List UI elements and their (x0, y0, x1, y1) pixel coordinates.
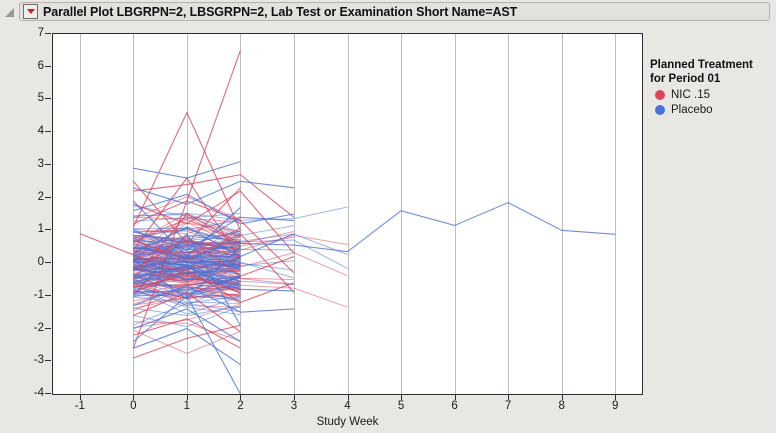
page-title: Parallel Plot LBGRPN=2, LBSGRPN=2, Lab T… (43, 5, 517, 19)
x-axis-tick-label: 3 (291, 400, 297, 412)
y-axis-tick-mark (45, 197, 51, 198)
legend-item[interactable]: NIC .15 (650, 89, 774, 101)
parallel-plot-svg (53, 34, 642, 394)
y-axis-tick-mark (45, 229, 51, 230)
title-frame: Parallel Plot LBGRPN=2, LBSGRPN=2, Lab T… (19, 2, 770, 21)
legend-item[interactable]: Placebo (650, 104, 774, 116)
y-axis-tick-mark (45, 393, 51, 394)
subject-profile-line (133, 181, 294, 204)
y-axis-tick-mark (45, 262, 51, 263)
y-axis-tick-marks (0, 33, 52, 395)
x-axis-tick-label: 8 (558, 400, 564, 412)
subject-profile-line (133, 329, 240, 365)
outline-triangle-icon[interactable] (5, 8, 14, 17)
legend: Planned Treatment for Period 01 NIC .15P… (650, 59, 774, 116)
legend-entries: NIC .15Placebo (650, 89, 774, 116)
x-axis-tick-label: 5 (398, 400, 404, 412)
series-lines (80, 50, 615, 394)
legend-item-label: NIC .15 (671, 89, 710, 101)
x-axis-tick-labels: -10123456789 (52, 396, 643, 416)
y-axis-tick-mark (45, 131, 51, 132)
legend-color-dot-icon (655, 90, 665, 100)
x-axis-tick-label: 2 (237, 400, 243, 412)
chart-area: -4-3-2-101234567 -10123456789 Study Week… (0, 25, 776, 433)
subject-profile-line (240, 203, 615, 252)
y-axis-tick-mark (45, 295, 51, 296)
x-axis-tick-label: 9 (612, 400, 618, 412)
x-axis-tick-label: 0 (130, 400, 136, 412)
parallel-plot-panel: Parallel Plot LBGRPN=2, LBSGRPN=2, Lab T… (0, 0, 776, 433)
y-axis-tick-mark (45, 98, 51, 99)
x-axis-tick-label: -1 (75, 400, 85, 412)
y-axis-tick-mark (45, 66, 51, 67)
legend-color-dot-icon (655, 105, 665, 115)
plot-frame[interactable] (52, 33, 643, 395)
panel-title-bar: Parallel Plot LBGRPN=2, LBSGRPN=2, Lab T… (0, 0, 776, 25)
x-axis-tick-label: 1 (184, 400, 190, 412)
x-axis-title: Study Week (52, 416, 643, 428)
subject-profile-line (133, 162, 240, 178)
x-axis-tick-label: 4 (344, 400, 350, 412)
y-axis-tick-mark (45, 164, 51, 165)
y-axis-tick-mark (45, 360, 51, 361)
x-axis-tick-label: 6 (451, 400, 457, 412)
y-axis-tick-mark (45, 33, 51, 34)
red-down-triangle-icon[interactable] (23, 4, 38, 19)
legend-item-label: Placebo (671, 104, 713, 116)
legend-title: Planned Treatment for Period 01 (650, 59, 774, 86)
x-axis-tick-label: 7 (505, 400, 511, 412)
y-axis-tick-mark (45, 328, 51, 329)
